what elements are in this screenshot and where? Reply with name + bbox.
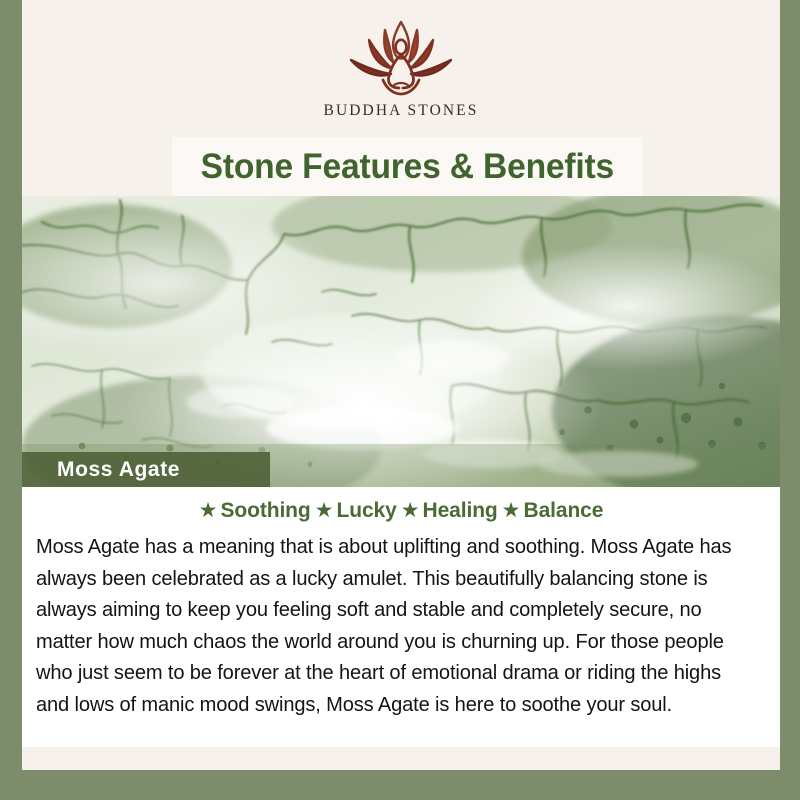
lotus-meditation-figure-icon [341, 16, 461, 100]
stone-description: Moss Agate has a meaning that is about u… [36, 532, 755, 721]
feature-item: ★ Healing [401, 499, 498, 523]
moss-agate-photo-illustration [22, 196, 780, 487]
brand-name: BUDDHA STONES [324, 102, 479, 120]
star-icon: ★ [199, 500, 218, 521]
title-ribbon: Stone Features & Benefits [172, 137, 642, 196]
feature-label: Lucky [336, 499, 396, 523]
feature-item: ★ Balance [502, 499, 604, 523]
decorative-band-left [0, 0, 22, 800]
feature-item: ★ Soothing [199, 499, 311, 523]
feature-item: ★ Lucky [315, 499, 397, 523]
poster-card: BUDDHA STONES Stone Features & Benefits [22, 0, 780, 770]
stone-name-band: Moss Agate [22, 452, 270, 487]
stone-photo [22, 196, 780, 487]
feature-label: Soothing [220, 499, 310, 523]
brand-logo: BUDDHA STONES [22, 16, 780, 120]
poster-root: BUDDHA STONES Stone Features & Benefits [0, 0, 800, 800]
decorative-band-right [780, 0, 800, 800]
feature-label: Healing [423, 499, 498, 523]
content-panel: ★ Soothing ★ Lucky ★ Healing ★ Balance M… [22, 487, 780, 747]
star-icon: ★ [502, 500, 521, 521]
stone-name-label: Moss Agate [22, 458, 180, 482]
feature-label: Balance [524, 499, 604, 523]
feature-list: ★ Soothing ★ Lucky ★ Healing ★ Balance [22, 487, 780, 523]
page-title: Stone Features & Benefits [200, 147, 613, 187]
star-icon: ★ [315, 500, 334, 521]
star-icon: ★ [401, 500, 420, 521]
